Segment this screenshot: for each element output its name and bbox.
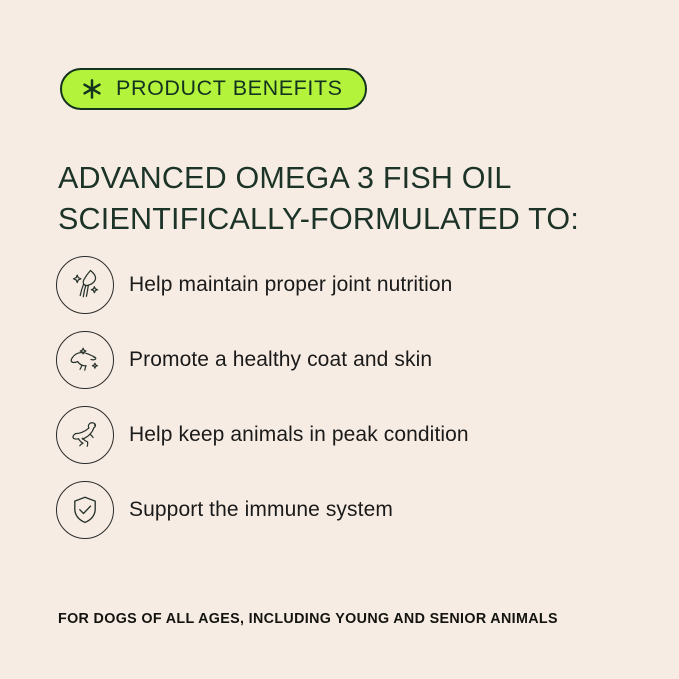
list-item: Help keep animals in peak condition bbox=[56, 406, 636, 464]
list-item-label: Help maintain proper joint nutrition bbox=[129, 272, 452, 297]
page-title-line-2: SCIENTIFICALLY-FORMULATED TO: bbox=[58, 199, 638, 240]
shield-check-icon bbox=[56, 481, 114, 539]
badge-label: PRODUCT BENEFITS bbox=[116, 78, 343, 100]
page-title: ADVANCED OMEGA 3 FISH OIL SCIENTIFICALLY… bbox=[58, 158, 638, 240]
dog-head-sparkle-icon bbox=[56, 331, 114, 389]
product-benefits-panel: PRODUCT BENEFITS ADVANCED OMEGA 3 FISH O… bbox=[0, 0, 679, 679]
list-item-label: Promote a healthy coat and skin bbox=[129, 347, 432, 372]
footer-note: FOR DOGS OF ALL AGES, INCLUDING YOUNG AN… bbox=[58, 611, 558, 627]
product-benefits-badge: PRODUCT BENEFITS bbox=[60, 68, 367, 110]
page-title-line-1: ADVANCED OMEGA 3 FISH OIL bbox=[58, 158, 638, 199]
list-item: Promote a healthy coat and skin bbox=[56, 331, 636, 389]
running-dog-icon bbox=[56, 406, 114, 464]
list-item: Help maintain proper joint nutrition bbox=[56, 256, 636, 314]
list-item-label: Help keep animals in peak condition bbox=[129, 422, 469, 447]
benefits-list: Help maintain proper joint nutrition Pro… bbox=[56, 256, 636, 556]
joint-bone-sparkle-icon bbox=[56, 256, 114, 314]
list-item-label: Support the immune system bbox=[129, 497, 393, 522]
asterisk-icon bbox=[81, 78, 103, 100]
list-item: Support the immune system bbox=[56, 481, 636, 539]
